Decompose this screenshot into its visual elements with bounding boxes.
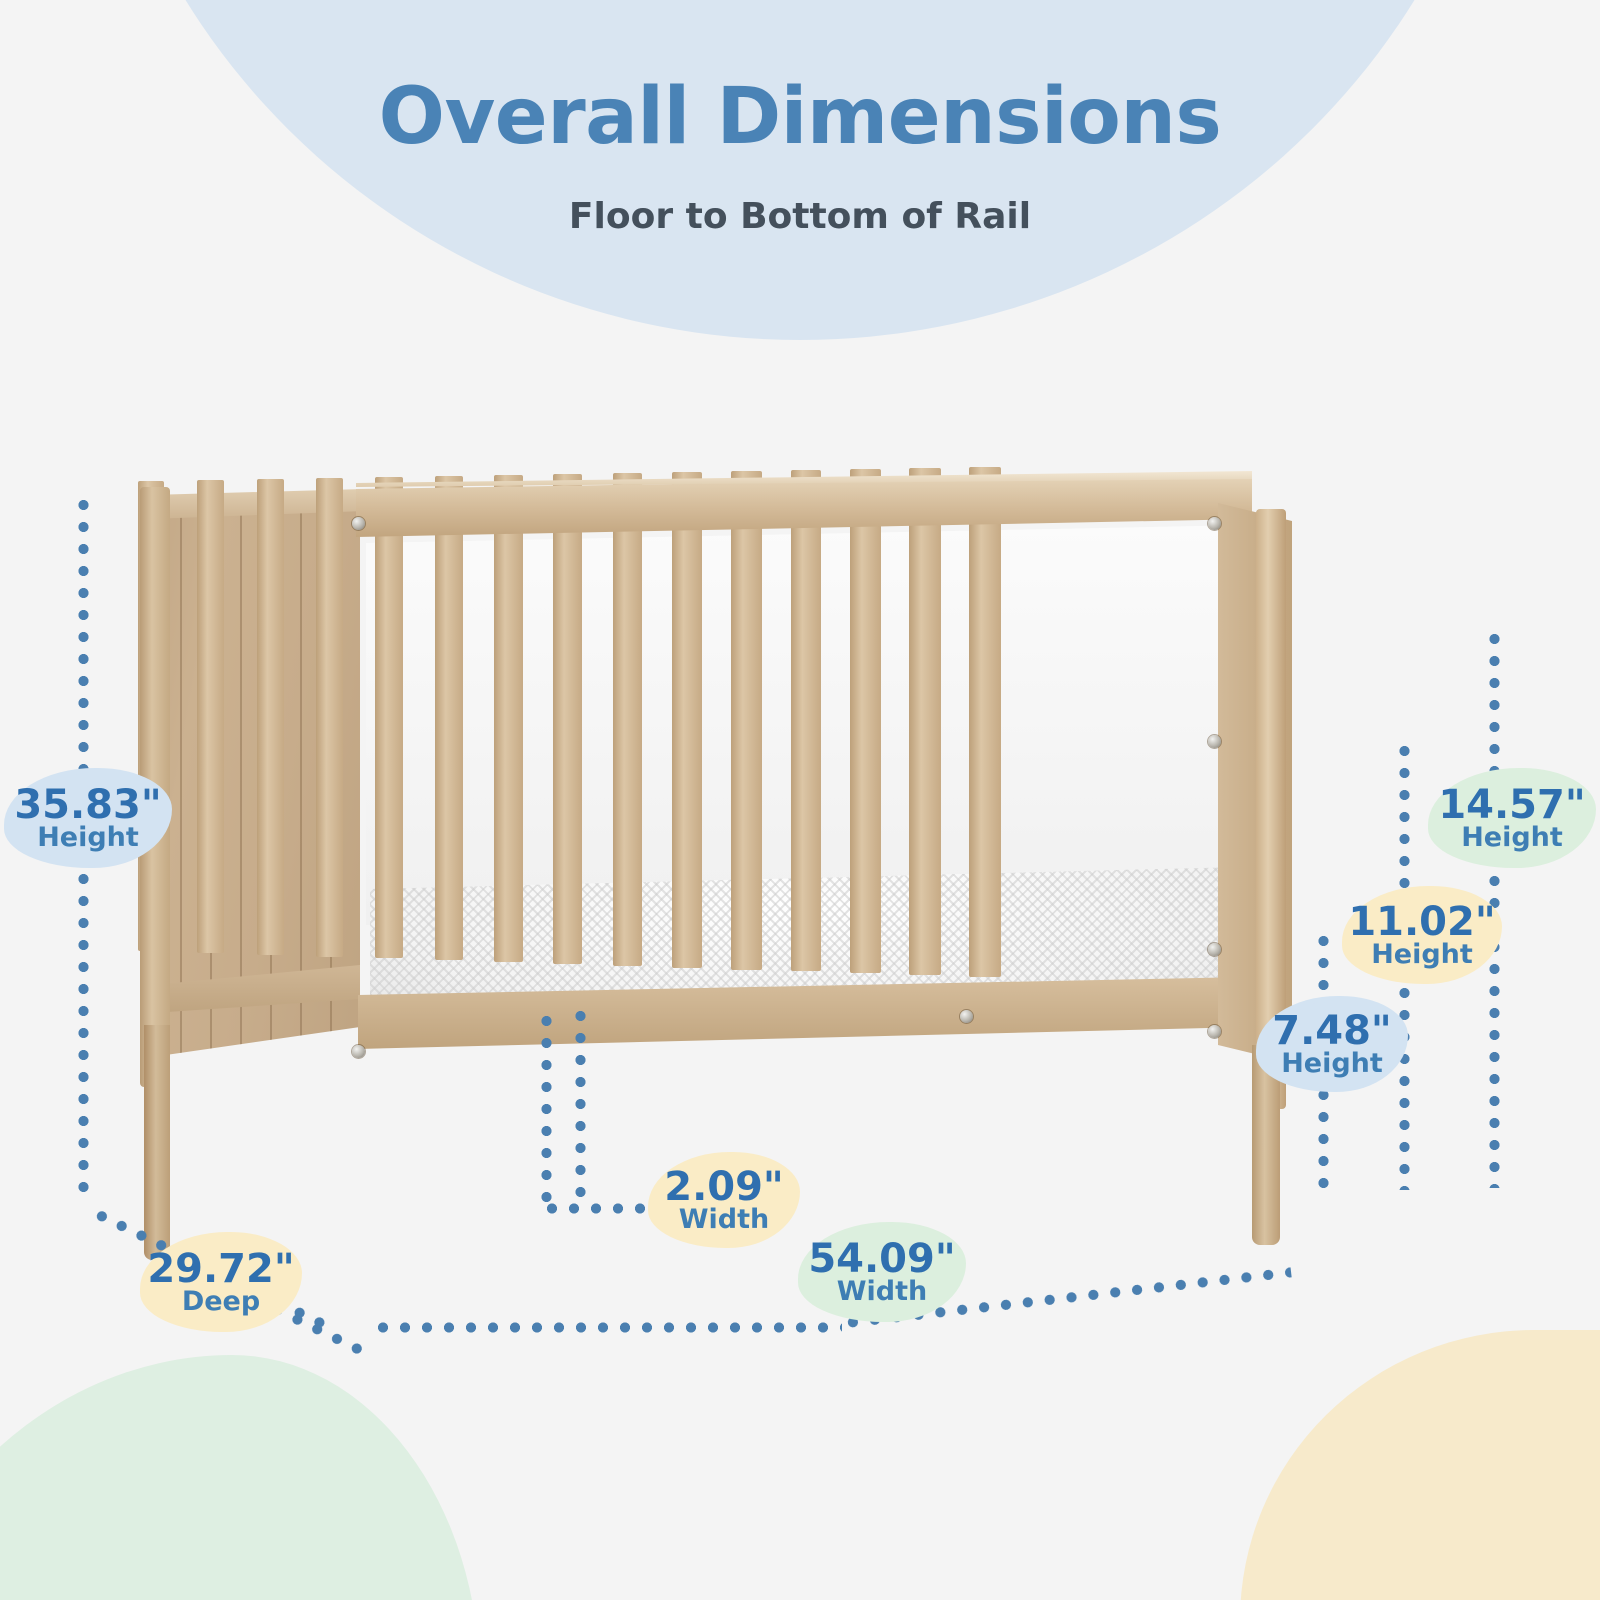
callout-low-height: 7.48" Height (1256, 996, 1408, 1092)
callout-value: 54.09" (808, 1239, 955, 1280)
crib-slat (909, 468, 941, 975)
page-title: Overall Dimensions (0, 78, 1600, 156)
crib-screw (1208, 517, 1221, 530)
callout-slat-width: 2.09" Width (648, 1152, 800, 1248)
page-subtitle: Floor to Bottom of Rail (0, 196, 1600, 237)
guide-line-slat-left (541, 1010, 552, 1208)
crib-slat (850, 469, 881, 973)
callout-rail-height: 14.57" Height (1428, 768, 1596, 868)
callout-unit: Width (664, 1206, 784, 1234)
crib-slat (791, 470, 822, 971)
crib-slat (375, 477, 403, 958)
crib-slat (613, 473, 642, 966)
callout-value: 2.09" (664, 1167, 784, 1208)
crib-slat (553, 474, 582, 964)
crib-screw (1208, 1025, 1221, 1038)
crib-slat (435, 476, 463, 960)
header-arc-shape (80, 0, 1520, 340)
callout-mid-height: 11.02" Height (1342, 886, 1502, 984)
callout-overall-depth: 29.72" Deep (140, 1232, 302, 1332)
crib-screw (1208, 735, 1221, 748)
crib-screw (352, 517, 365, 530)
callout-value: 11.02" (1348, 902, 1495, 943)
guide-line-slat-right (575, 1005, 586, 1208)
crib-slat (731, 471, 761, 970)
callout-unit: Height (1272, 1050, 1392, 1078)
crib-screw (1208, 943, 1221, 956)
callout-value: 29.72" (147, 1249, 294, 1290)
callout-value: 7.48" (1272, 1011, 1392, 1052)
guide-line-width-left (372, 1322, 842, 1333)
crib-screw (960, 1010, 973, 1023)
corner-blob-cream (1240, 1330, 1600, 1600)
crib-slat (494, 475, 523, 962)
corner-blob-green (0, 1355, 480, 1600)
crib-slat (197, 480, 223, 953)
crib-slat (672, 472, 702, 968)
infographic-canvas: Overall Dimensions Floor to Bottom of Ra… (0, 0, 1600, 1600)
callout-value: 14.57" (1438, 785, 1585, 826)
crib-slat (969, 467, 1001, 977)
crib-screw (352, 1045, 365, 1058)
crib-slat (257, 479, 284, 955)
guide-line-slat-width (541, 1203, 661, 1214)
crib-slat (316, 478, 343, 957)
callout-overall-width: 54.09" Width (798, 1222, 966, 1322)
crib-left-leg (144, 1025, 170, 1260)
callout-overall-height: 35.83" Height (4, 768, 172, 868)
callout-value: 35.83" (14, 785, 161, 826)
